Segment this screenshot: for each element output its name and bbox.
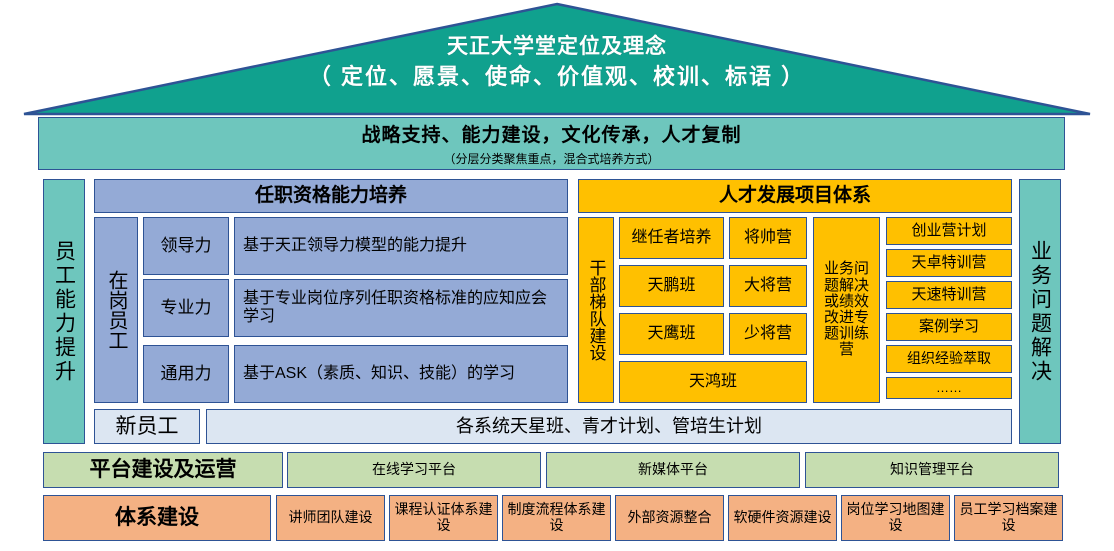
cadre-cell-shaojiang: 少将营 bbox=[729, 313, 807, 355]
ability-desc-leadership: 基于天正领导力模型的能力提升 bbox=[234, 217, 568, 275]
left-pillar-employee-capability: 员工能力提升 bbox=[43, 179, 85, 444]
cadre-cell-jiangshuai: 将帅营 bbox=[729, 217, 807, 259]
cadre-cell-tianying: 天鹰班 bbox=[619, 313, 724, 355]
business-item-tianzhuo-camp: 天卓特训营 bbox=[886, 249, 1012, 277]
strategy-band: 战略支持、能力建设，文化传承，人才复制 （分层分类聚焦重点，混合式培养方式） bbox=[38, 117, 1065, 170]
platform-item-online-learning: 在线学习平台 bbox=[287, 452, 541, 488]
cadre-cell-tianhong: 天鸿班 bbox=[619, 361, 807, 403]
right-pillar-business-problem-solving: 业务问题解决 bbox=[1019, 179, 1061, 444]
business-item-ellipsis: …… bbox=[886, 377, 1012, 399]
business-item-case-study: 案例学习 bbox=[886, 313, 1012, 341]
system-item-learning-map: 岗位学习地图建设 bbox=[841, 495, 950, 541]
business-item-tiansu-camp: 天速特训营 bbox=[886, 281, 1012, 309]
cadre-cell-tianpeng: 天鹏班 bbox=[619, 265, 724, 307]
business-item-experience-extraction: 组织经验萃取 bbox=[886, 345, 1012, 373]
system-item-learning-records: 员工学习档案建设 bbox=[954, 495, 1063, 541]
newcomer-desc: 各系统天星班、青才计划、管培生计划 bbox=[206, 409, 1012, 444]
cadre-echelon-label: 干部梯队建设 bbox=[578, 217, 614, 403]
roof-title-line1: 天正大学堂定位及理念 bbox=[22, 32, 1092, 62]
platform-label: 平台建设及运营 bbox=[43, 452, 283, 488]
system-item-hardware-software: 软硬件资源建设 bbox=[728, 495, 837, 541]
business-problem-training-camp-label: 业务问题解决或绩效改进专题训练营 bbox=[813, 217, 880, 403]
system-item-process-system: 制度流程体系建设 bbox=[502, 495, 611, 541]
ability-cell-general: 通用力 bbox=[143, 345, 229, 403]
newcomer-label: 新员工 bbox=[94, 409, 200, 444]
ability-cell-professional: 专业力 bbox=[143, 279, 229, 337]
cadre-cell-successor: 继任者培养 bbox=[619, 217, 724, 259]
system-label: 体系建设 bbox=[43, 495, 271, 541]
ability-desc-general: 基于ASK（素质、知识、技能）的学习 bbox=[234, 345, 568, 403]
qualification-header: 任职资格能力培养 bbox=[94, 179, 568, 213]
system-item-course-certification: 课程认证体系建设 bbox=[389, 495, 498, 541]
roof-triangle: 天正大学堂定位及理念 （ 定位、愿景、使命、价值观、校训、标语 ） bbox=[22, 2, 1092, 116]
strategy-band-subtitle: （分层分类聚焦重点，混合式培养方式） bbox=[443, 150, 659, 167]
system-item-trainer-team: 讲师团队建设 bbox=[276, 495, 385, 541]
strategy-band-title: 战略支持、能力建设，文化传承，人才复制 bbox=[361, 120, 741, 147]
talent-header: 人才发展项目体系 bbox=[578, 179, 1012, 213]
business-item-startup-camp: 创业营计划 bbox=[886, 217, 1012, 245]
platform-item-new-media: 新媒体平台 bbox=[546, 452, 800, 488]
roof-title-block: 天正大学堂定位及理念 （ 定位、愿景、使命、价值观、校训、标语 ） bbox=[22, 32, 1092, 92]
cadre-cell-dajiang: 大将营 bbox=[729, 265, 807, 307]
ability-desc-professional: 基于专业岗位序列任职资格标准的应知应会学习 bbox=[234, 279, 568, 337]
platform-item-knowledge-management: 知识管理平台 bbox=[805, 452, 1059, 488]
roof-title-line2: （ 定位、愿景、使命、价值观、校训、标语 ） bbox=[22, 62, 1092, 92]
org-learning-architecture-diagram: 天正大学堂定位及理念 （ 定位、愿景、使命、价值观、校训、标语 ） 战略支持、能… bbox=[0, 0, 1114, 551]
ability-cell-leadership: 领导力 bbox=[143, 217, 229, 275]
system-item-external-resources: 外部资源整合 bbox=[615, 495, 724, 541]
qualification-group-on-duty: 在岗员工 bbox=[94, 217, 138, 403]
